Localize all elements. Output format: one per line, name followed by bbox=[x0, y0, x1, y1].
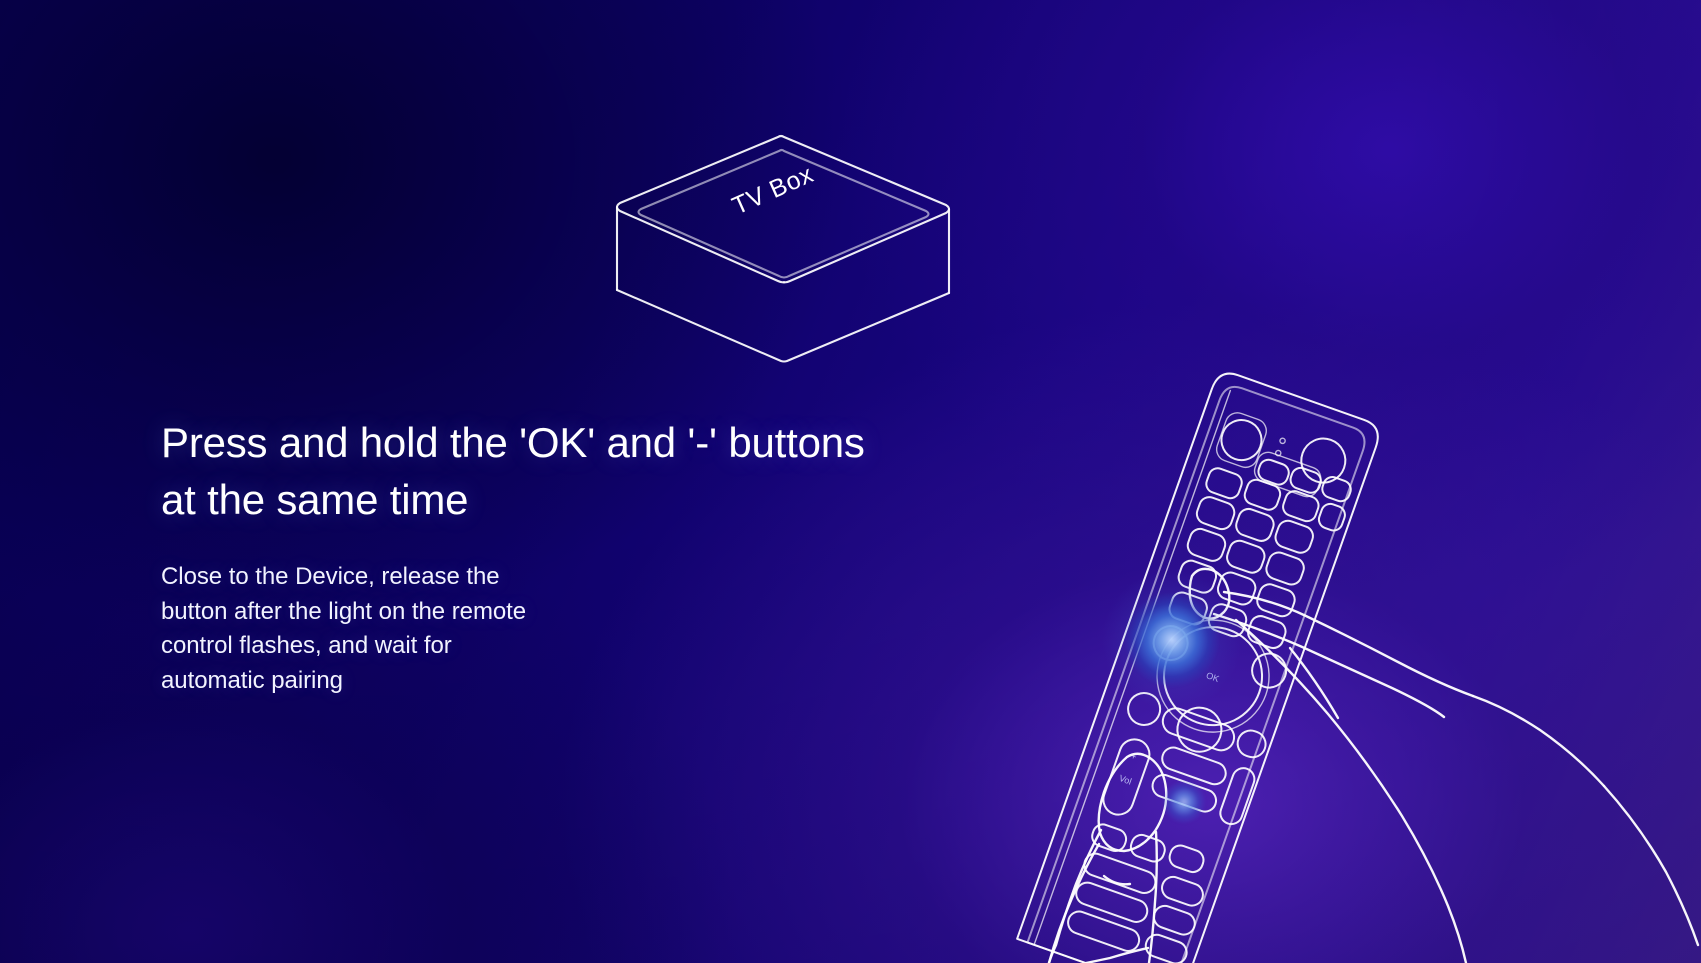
instruction-headline: Press and hold the 'OK' and '-' buttons … bbox=[161, 414, 1021, 528]
ok-button-highlight[interactable] bbox=[1124, 592, 1220, 688]
instruction-copy: Press and hold the 'OK' and '-' buttons … bbox=[161, 414, 1021, 698]
minus-button-highlight[interactable] bbox=[1162, 780, 1206, 824]
pairing-instruction-screen: TV Box bbox=[0, 0, 1701, 963]
instruction-body: Close to the Device, release the button … bbox=[161, 528, 1021, 698]
